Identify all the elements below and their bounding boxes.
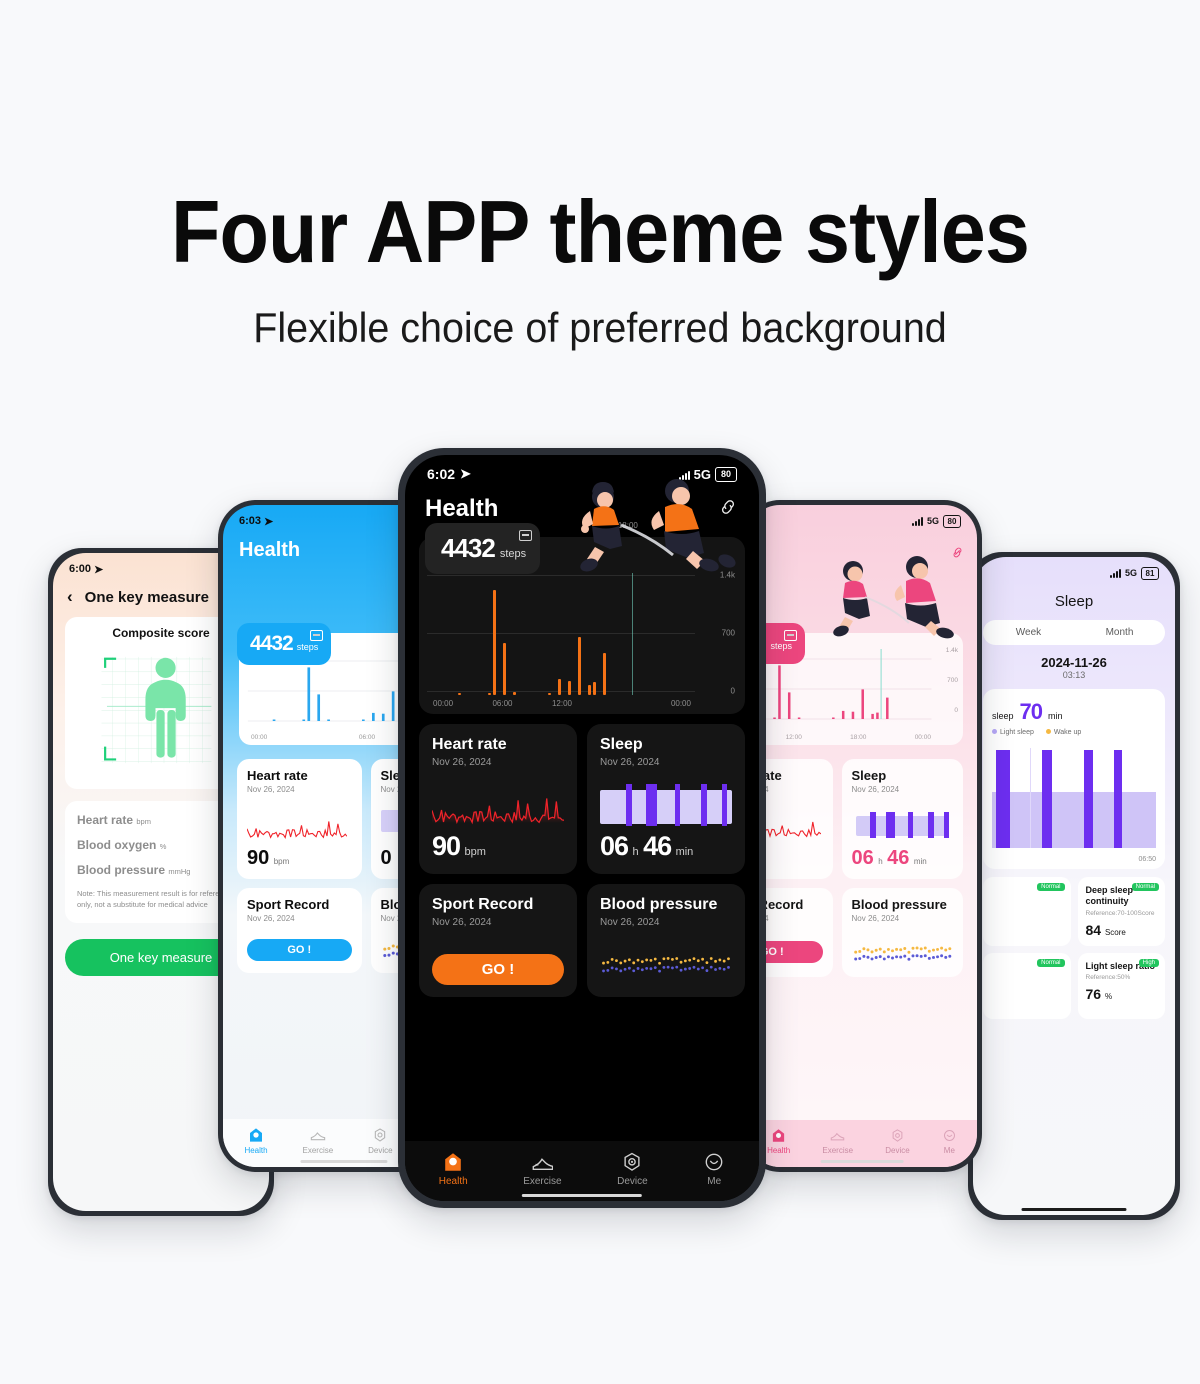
status-time: 6:00: [69, 563, 91, 575]
sleep-bar-chart: [992, 744, 1156, 854]
x-tick: 06:00: [492, 699, 512, 708]
screen-health-pink: 5G 80: [747, 505, 977, 1167]
y-tick: 0: [954, 707, 958, 714]
phone-mockup-sleep-theme: 5G 81 Sleep Week Month 2024-11-26 03:13 …: [968, 552, 1180, 1220]
steps-value: 4432: [441, 533, 495, 564]
heart-rate-sparkline: [432, 784, 564, 828]
steps-bar-chart: 1.4k 700 0: [427, 571, 737, 695]
nav-label: Exercise: [523, 1176, 561, 1187]
health-home-icon: [248, 1127, 264, 1143]
metric-label: Heart rate: [77, 813, 133, 827]
card-value: 0: [381, 847, 392, 870]
card-sleep[interactable]: Sleep Nov 26, 2024 06 h 46 min: [842, 759, 964, 879]
card-date: Nov 26, 2024: [852, 914, 954, 923]
location-arrow-icon: ➤: [94, 563, 103, 576]
x-tick: 00:00: [251, 734, 267, 741]
signal-icon: [912, 517, 923, 526]
card-sport-record[interactable]: Sport Record Nov 26, 2024 GO !: [419, 884, 577, 997]
card-title: Sport Record: [432, 896, 564, 914]
status-indicators: 5G 80: [912, 515, 961, 528]
card-value: 76 %: [1086, 986, 1158, 1002]
profile-icon: [942, 1128, 957, 1143]
status-time: 6:02: [427, 466, 455, 482]
chart-legend: Light sleep Wake up: [992, 729, 1156, 736]
legend-light-sleep: Light sleep: [992, 729, 1034, 736]
profile-icon: [703, 1151, 725, 1173]
nav-label: Me: [944, 1146, 955, 1155]
sleep-hours: 06: [852, 847, 874, 869]
card-sleep[interactable]: Sleep Nov 26, 2024 06 h 46 min: [587, 724, 745, 874]
screen-title: One key measure: [85, 589, 209, 606]
chart-x-axis: 00:00 06:00 12:00 00:00 00:00: [427, 695, 737, 708]
share-icon[interactable]: [784, 630, 797, 641]
sleep-metric-cards: Normal Normal Deep sleep continuity Refe…: [983, 877, 1165, 1019]
metric-unit: bpm: [136, 817, 151, 826]
card-date: Nov 26, 2024: [247, 914, 352, 923]
x-tick: 00:00: [915, 734, 931, 741]
status-badge: Normal: [1037, 883, 1064, 891]
nav-item-exercise[interactable]: Exercise: [822, 1128, 853, 1155]
value-number: 76: [1086, 986, 1102, 1002]
status-badge: Normal: [1132, 883, 1159, 891]
status-badge: Normal: [1037, 959, 1064, 967]
status-bar: 5G 81: [973, 557, 1175, 583]
go-button[interactable]: GO !: [247, 939, 352, 961]
sleep-minutes-unit: min: [914, 857, 927, 866]
heart-rate-sparkline: [247, 808, 347, 842]
sleep-bar-chart: [600, 784, 732, 826]
share-icon[interactable]: [519, 530, 532, 541]
phone-mockup-dark-theme: 6:02 ➤ 5G 80 Health: [398, 448, 766, 1208]
x-tick: 18:00: [850, 734, 866, 741]
location-arrow-icon: ➤: [460, 466, 471, 482]
shoe-icon: [310, 1127, 326, 1143]
value-unit: %: [1105, 992, 1112, 1001]
status-time: 6:03: [239, 515, 261, 527]
nav-item-device[interactable]: Device: [368, 1127, 392, 1155]
nav-item-exercise[interactable]: Exercise: [303, 1127, 334, 1155]
legend-label: Wake up: [1054, 729, 1081, 736]
steps-unit: steps: [297, 642, 319, 652]
bars-container: [433, 571, 689, 695]
bp-scatter: [600, 950, 732, 976]
x-tick: 00:00: [671, 699, 691, 708]
hr-value: 90: [247, 847, 269, 869]
device-icon: [890, 1128, 905, 1143]
sleep-minutes: 46: [643, 831, 671, 861]
card-title: Sleep: [600, 736, 732, 754]
sleep-minutes: 46: [887, 847, 909, 869]
value-number: 84: [1086, 922, 1102, 938]
battery-badge: 80: [943, 515, 961, 528]
nav-item-me[interactable]: Me: [942, 1128, 957, 1155]
card-title: Heart rate: [432, 736, 564, 754]
card-value: 90 bpm: [432, 831, 486, 862]
value-unit: Score: [1105, 928, 1126, 937]
device-icon: [621, 1151, 643, 1173]
card-value: 84 Score: [1086, 922, 1158, 938]
device-icon: [372, 1127, 388, 1143]
sleep-date: 2024-11-26: [973, 655, 1175, 670]
x-tick: 12:00: [552, 699, 572, 708]
steps-unit: steps: [771, 641, 793, 651]
card-value: 90 bpm: [247, 847, 289, 870]
screen-sleep: 5G 81 Sleep Week Month 2024-11-26 03:13 …: [973, 557, 1175, 1215]
steps-chart-section: 4432 steps 1.4k 700 0: [419, 537, 745, 714]
health-home-icon: [442, 1151, 464, 1173]
nav-label: Health: [244, 1146, 267, 1155]
card-deep-sleep-continuity[interactable]: Normal Deep sleep continuity Reference:7…: [1078, 877, 1166, 946]
tab-month[interactable]: Month: [1074, 620, 1165, 645]
phone-mockup-pink-theme: 5G 80: [742, 500, 982, 1172]
network-label: 5G: [1125, 568, 1137, 578]
nav-item-exercise[interactable]: Exercise: [523, 1151, 561, 1187]
nav-label: Exercise: [303, 1146, 334, 1155]
card-light-sleep-ratio[interactable]: High Light sleep ratio Reference:50% 76 …: [1078, 953, 1166, 1019]
signal-icon: [1110, 569, 1121, 578]
nav-label: Me: [707, 1176, 721, 1187]
y-tick: 0: [731, 687, 735, 696]
bottom-navigation: Health Exercise Device: [405, 1141, 759, 1201]
current-time-marker: [632, 573, 633, 695]
nav-item-device[interactable]: Device: [617, 1151, 648, 1187]
x-tick: 00:00: [433, 699, 453, 708]
card-date: Nov 26, 2024: [432, 757, 564, 768]
sleep-metric-card[interactable]: Normal: [983, 953, 1071, 1019]
steps-pill[interactable]: 4432 steps: [237, 623, 331, 665]
metric-card-grid: Heart rate Nov 26, 2024 Sleep Nov 26, 20…: [747, 759, 963, 977]
screen-title: Health: [425, 495, 498, 523]
card-heart-rate[interactable]: Heart rate Nov 26, 2024 90: [419, 724, 577, 874]
card-value: 06 h 46 min: [852, 847, 927, 870]
location-arrow-icon: ➤: [264, 515, 273, 528]
sleep-hours: 06: [600, 831, 628, 861]
tab-week[interactable]: Week: [983, 620, 1074, 645]
share-icon[interactable]: [310, 630, 323, 641]
hr-value: 90: [432, 831, 460, 861]
status-indicators: 5G 81: [1110, 567, 1159, 580]
card-date: Nov 26, 2024: [600, 917, 732, 928]
nav-label: Health: [439, 1176, 468, 1187]
nav-label: Device: [368, 1146, 392, 1155]
health-home-icon: [771, 1128, 786, 1143]
metric-card-grid: Heart rate Nov 26, 2024 90: [405, 714, 759, 997]
screen-health-dark: 6:02 ➤ 5G 80 Health: [405, 455, 759, 1201]
metric-label: Blood oxygen: [77, 838, 156, 852]
card-blood-pressure[interactable]: Blood pressure Nov 26, 2024: [587, 884, 745, 997]
metric-unit: min: [1048, 711, 1063, 721]
home-indicator: [300, 1160, 387, 1163]
shoe-icon: [531, 1151, 553, 1173]
x-tick: 12:00: [786, 734, 802, 741]
period-tabs: Week Month: [983, 620, 1165, 645]
sleep-minutes-unit: min: [676, 846, 694, 858]
card-date: Nov 26, 2024: [247, 785, 352, 794]
card-date: Nov 26, 2024: [852, 785, 954, 794]
sleep-hours-unit: h: [633, 846, 639, 858]
card-heart-rate[interactable]: Heart rate Nov 26, 2024 90 bpm: [237, 759, 362, 879]
network-label: 5G: [927, 516, 939, 526]
x-tick: 06:00: [359, 734, 375, 741]
home-indicator: [821, 1160, 904, 1163]
sleep-chart-panel: sleep 70 min Light sleep Wake up 06:50: [983, 689, 1165, 869]
sleep-hours-unit: h: [878, 857, 882, 866]
y-tick: 1.4k: [946, 647, 958, 654]
card-date: Nov 26, 2024: [432, 917, 564, 928]
sleep-date-block: 2024-11-26 03:13: [973, 655, 1175, 680]
legend-wake-up: Wake up: [1046, 729, 1081, 736]
chart-x-end-label: 06:50: [992, 856, 1156, 863]
card-title: Sport Record: [247, 897, 352, 912]
nav-item-device[interactable]: Device: [885, 1128, 909, 1155]
card-title: Heart rate: [247, 768, 352, 783]
nav-item-health[interactable]: Health: [439, 1151, 468, 1187]
home-indicator: [522, 1194, 642, 1197]
go-button[interactable]: GO !: [432, 954, 564, 985]
steps-unit: steps: [500, 548, 526, 560]
card-sport-record[interactable]: Sport Record Nov 26, 2024 GO !: [237, 888, 362, 973]
y-tick: 700: [722, 629, 735, 638]
card-reference: Reference:70-100Score: [1086, 910, 1158, 917]
sleep-metric: sleep 70 min: [992, 699, 1156, 725]
nav-label: Health: [767, 1146, 790, 1155]
battery-badge: 81: [1141, 567, 1159, 580]
bp-scatter: [852, 941, 954, 963]
sleep-time: 03:13: [973, 670, 1175, 680]
metric-value: 70: [1020, 699, 1042, 725]
nav-item-health[interactable]: Health: [244, 1127, 267, 1155]
home-indicator: [1021, 1208, 1126, 1211]
sleep-value: 0: [381, 847, 392, 869]
nav-item-me[interactable]: Me: [703, 1151, 725, 1187]
y-tick: 700: [947, 677, 958, 684]
status-badge: High: [1139, 959, 1159, 967]
sleep-metric-card[interactable]: Normal: [983, 877, 1071, 946]
steps-value: 4432: [250, 632, 293, 656]
metric-label: sleep: [992, 711, 1014, 721]
metric-unit: mmHg: [168, 867, 190, 876]
card-title: Sleep: [852, 768, 954, 783]
legend-label: Light sleep: [1000, 729, 1034, 736]
shoe-icon: [830, 1128, 845, 1143]
metric-unit: %: [160, 842, 167, 851]
card-blood-pressure[interactable]: Blood pressure Nov 26, 2024: [842, 888, 964, 977]
card-date: Nov 26, 2024: [600, 757, 732, 768]
bottom-navigation: Health Exercise Device: [747, 1120, 977, 1167]
sleep-bar-chart: [852, 812, 954, 838]
card-value: 06 h 46 min: [600, 831, 693, 862]
screen-title: Sleep: [973, 583, 1175, 610]
back-chevron-icon[interactable]: ‹: [67, 587, 73, 607]
card-title: Blood pressure: [852, 897, 954, 912]
hr-unit: bpm: [274, 857, 290, 866]
status-bar: 5G 80: [747, 505, 977, 531]
nav-label: Exercise: [822, 1146, 853, 1155]
nav-label: Device: [885, 1146, 909, 1155]
steps-pill[interactable]: 4432 steps: [425, 523, 540, 574]
nav-label: Device: [617, 1176, 648, 1187]
runners-illustration: [559, 471, 749, 589]
phone-mockup-stage: 6:00 ➤ ‹ One key measure Composite score: [0, 0, 1200, 1384]
card-reference: Reference:50%: [1086, 974, 1158, 981]
card-title: Blood pressure: [600, 896, 732, 914]
metric-label: Blood pressure: [77, 863, 165, 877]
runners-illustration: [805, 549, 977, 645]
nav-item-health[interactable]: Health: [767, 1128, 790, 1155]
hr-unit: bpm: [465, 846, 486, 858]
